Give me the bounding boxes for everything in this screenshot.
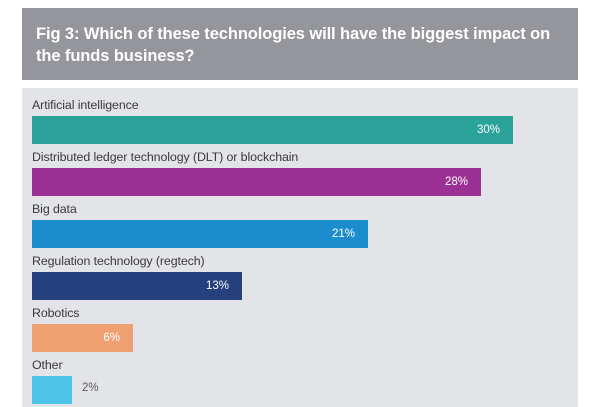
bar-row: Robotics 6% (22, 305, 578, 357)
bar-row: Regulation technology (regtech) 13% (22, 253, 578, 305)
bar-fill-other[interactable] (32, 376, 72, 404)
bar-category-label: Artificial intelligence (32, 97, 578, 114)
bar-track: 13% (32, 272, 578, 300)
bar-category-label: Distributed ledger technology (DLT) or b… (32, 149, 578, 166)
bar-value-label: 13% (206, 280, 242, 292)
bar-track: 30% (32, 116, 578, 144)
bar-track: 28% (32, 168, 578, 196)
bar-row: Distributed ledger technology (DLT) or b… (22, 149, 578, 201)
figure-header: Fig 3: Which of these technologies will … (22, 8, 578, 80)
bar-fill-robotics[interactable]: 6% (32, 324, 133, 352)
bar-fill-dlt-blockchain[interactable]: 28% (32, 168, 481, 196)
bar-value-label: 2% (82, 382, 99, 394)
bar-category-label: Other (32, 357, 578, 374)
bar-track: 21% (32, 220, 578, 248)
bar-row: Big data 21% (22, 201, 578, 253)
bar-category-label: Big data (32, 201, 578, 218)
bar-category-label: Robotics (32, 305, 578, 322)
bar-value-label: 28% (445, 176, 481, 188)
bar-fill-artificial-intelligence[interactable]: 30% (32, 116, 513, 144)
bar-row: Artificial intelligence 30% (22, 97, 578, 149)
bar-track: 2% (32, 376, 578, 404)
bar-value-label: 6% (103, 332, 133, 344)
bar-fill-big-data[interactable]: 21% (32, 220, 368, 248)
bar-value-label: 30% (477, 124, 513, 136)
bar-row: Other 2% (22, 357, 578, 397)
bar-value-label: 21% (332, 228, 368, 240)
bar-track: 6% (32, 324, 578, 352)
figure-container: Fig 3: Which of these technologies will … (0, 0, 600, 407)
bar-category-label: Regulation technology (regtech) (32, 253, 578, 270)
bar-fill-regtech[interactable]: 13% (32, 272, 242, 300)
figure-title: Fig 3: Which of these technologies will … (36, 24, 558, 68)
chart-plot-area: Artificial intelligence 30% Distributed … (22, 88, 578, 407)
